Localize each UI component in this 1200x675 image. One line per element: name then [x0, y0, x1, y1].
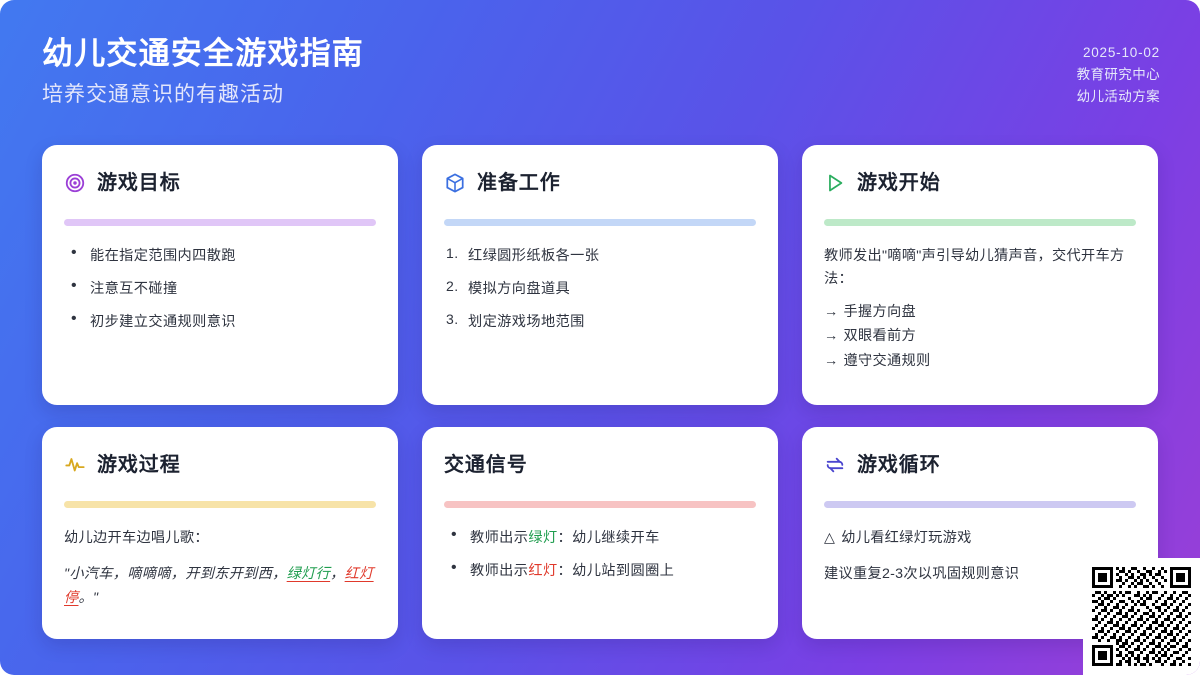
card-divider — [444, 219, 756, 226]
card-game-process: 游戏过程 幼儿边开车边唱儿歌： "小汽车，嘀嘀嘀，开到东开到西，绿灯行，红灯停。… — [42, 427, 398, 639]
cycle-line: △幼儿看红绿灯玩游戏 — [824, 527, 1136, 550]
signal-prefix: 教师出示 — [470, 563, 528, 579]
quote-part: 。" — [79, 590, 99, 606]
qr-code[interactable] — [1083, 558, 1200, 675]
signal-green-light: 绿灯 — [528, 530, 557, 546]
card-divider — [444, 501, 756, 508]
list-item: →遵守交通规则 — [824, 349, 1136, 373]
target-icon — [64, 172, 86, 194]
card-title: 准备工作 — [477, 171, 561, 195]
package-icon — [444, 172, 466, 194]
card-header: 准备工作 — [444, 169, 756, 197]
list-item-label: 双眼看前方 — [844, 328, 916, 344]
preparation-list: 红绿圆形纸板各一张 模拟方向盘道具 划定游戏场地范围 — [444, 245, 756, 344]
card-traffic-signal: 交通信号 教师出示绿灯：幼儿继续开车 教师出示红灯：幼儿站到圆圈上 — [422, 427, 778, 639]
card-header: 游戏开始 — [824, 169, 1136, 197]
triangle-icon: △ — [824, 530, 835, 546]
list-item: 注意互不碰撞 — [64, 278, 376, 298]
meta-org: 教育研究中心 — [1077, 64, 1160, 86]
card-title: 游戏开始 — [857, 171, 941, 195]
process-lead: 幼儿边开车边唱儿歌： — [64, 527, 376, 550]
signal-red-light: 红灯 — [528, 563, 557, 579]
meta-category: 幼儿活动方案 — [1077, 86, 1160, 108]
card-divider — [824, 219, 1136, 226]
card-game-goal: 游戏目标 能在指定范围内四散跑 注意互不碰撞 初步建立交通规则意识 — [42, 145, 398, 405]
arrow-icon: → — [824, 304, 839, 320]
list-item: →手握方向盘 — [824, 300, 1136, 324]
repeat-icon — [824, 454, 846, 476]
card-header: 交通信号 — [444, 451, 756, 479]
quote-green-light: 绿灯行 — [287, 566, 330, 582]
signal-list: 教师出示绿灯：幼儿继续开车 教师出示红灯：幼儿站到圆圈上 — [444, 527, 756, 593]
signal-suffix: ：幼儿继续开车 — [558, 530, 660, 546]
card-title: 游戏循环 — [857, 453, 941, 477]
page-title: 幼儿交通安全游戏指南 — [42, 34, 364, 74]
activity-icon — [64, 454, 86, 476]
signal-prefix: 教师出示 — [470, 530, 528, 546]
meta-date: 2025-10-02 — [1077, 42, 1160, 64]
signal-suffix: ：幼儿站到圆圈上 — [558, 563, 675, 579]
list-item: →双眼看前方 — [824, 324, 1136, 348]
qr-code-image — [1092, 567, 1191, 666]
card-preparation: 准备工作 红绿圆形纸板各一张 模拟方向盘道具 划定游戏场地范围 — [422, 145, 778, 405]
list-item: 能在指定范围内四散跑 — [64, 245, 376, 265]
play-icon — [824, 172, 846, 194]
header-meta: 2025-10-02 教育研究中心 幼儿活动方案 — [1077, 34, 1160, 108]
card-title: 交通信号 — [444, 453, 528, 477]
goal-list: 能在指定范围内四散跑 注意互不碰撞 初步建立交通规则意识 — [64, 245, 376, 344]
arrow-icon: → — [824, 353, 839, 369]
card-divider — [64, 219, 376, 226]
poster-header: 幼儿交通安全游戏指南 培养交通意识的有趣活动 2025-10-02 教育研究中心… — [0, 0, 1200, 132]
card-divider — [824, 501, 1136, 508]
list-item: 模拟方向盘道具 — [444, 278, 756, 298]
quote-part: "小汽车，嘀嘀嘀，开到东开到西， — [64, 566, 287, 582]
card-header: 游戏目标 — [64, 169, 376, 197]
quote-part: ， — [330, 566, 345, 582]
list-item: 初步建立交通规则意识 — [64, 311, 376, 331]
card-grid: 游戏目标 能在指定范围内四散跑 注意互不碰撞 初步建立交通规则意识 准备工作 — [42, 145, 1158, 639]
list-item-label: 遵守交通规则 — [844, 353, 931, 369]
arrow-icon: → — [824, 328, 839, 344]
card-header: 游戏循环 — [824, 451, 1136, 479]
poster-canvas: 幼儿交通安全游戏指南 培养交通意识的有趣活动 2025-10-02 教育研究中心… — [0, 0, 1200, 675]
list-item: 教师出示红灯：幼儿站到圆圈上 — [444, 560, 756, 580]
method-list: →手握方向盘 →双眼看前方 →遵守交通规则 — [824, 300, 1136, 373]
list-item-label: 手握方向盘 — [844, 304, 916, 320]
list-item: 划定游戏场地范围 — [444, 311, 756, 331]
card-game-start: 游戏开始 教师发出"嘀嘀"声引导幼儿猜声音，交代开车方法： →手握方向盘 →双眼… — [802, 145, 1158, 405]
card-title: 游戏目标 — [97, 171, 181, 195]
song-quote: "小汽车，嘀嘀嘀，开到东开到西，绿灯行，红灯停。" — [64, 562, 376, 611]
list-item: 红绿圆形纸板各一张 — [444, 245, 756, 265]
start-paragraph: 教师发出"嘀嘀"声引导幼儿猜声音，交代开车方法： — [824, 245, 1136, 291]
card-divider — [64, 501, 376, 508]
cycle-line-label: 幼儿看红绿灯玩游戏 — [841, 530, 971, 546]
card-header: 游戏过程 — [64, 451, 376, 479]
page-subtitle: 培养交通意识的有趣活动 — [42, 81, 364, 108]
card-title: 游戏过程 — [97, 453, 181, 477]
title-block: 幼儿交通安全游戏指南 培养交通意识的有趣活动 — [42, 34, 364, 108]
list-item: 教师出示绿灯：幼儿继续开车 — [444, 527, 756, 547]
